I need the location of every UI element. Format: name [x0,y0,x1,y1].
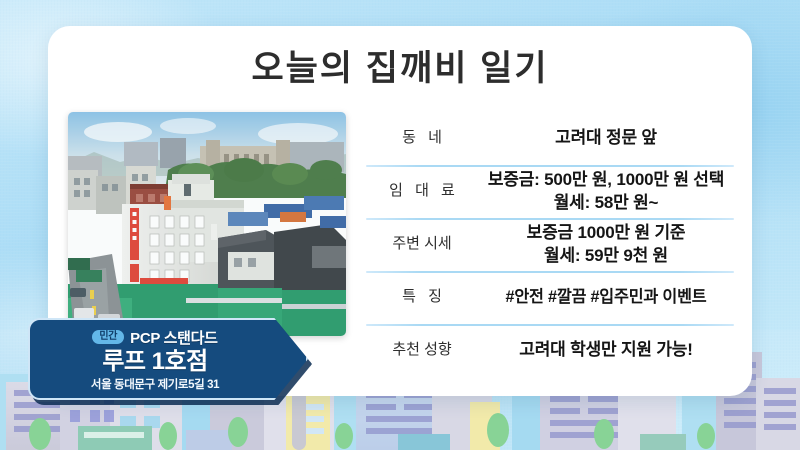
row-value-recommended-type: 고려대 학생만 지원 가능! [478,339,734,362]
table-row: 추천 성향 고려대 학생만 지원 가능! [366,324,734,377]
table-row: 임 대 료 보증금: 500만 원, 1000만 원 선택 월세: 58만 원~ [366,165,734,218]
aerial-building-photo [68,112,346,336]
row-value-market-price: 보증금 1000만 원 기준 월세: 59만 9천 원 [478,222,734,268]
table-row: 동 네 고려대 정문 앞 [366,112,734,165]
banner-address: 서울 동대문구 제기로5길 31 [91,376,219,392]
screenshot-root: 오늘의 집깨비 일기 [0,0,800,450]
row-value-neighborhood: 고려대 정문 앞 [478,127,734,150]
banner-content: 민간 PCP 스탠다드 루프 1호점 서울 동대문구 제기로5길 31 [28,318,308,400]
row-label-neighborhood: 동 네 [366,129,478,148]
table-row: 주변 시세 보증금 1000만 원 기준 월세: 59만 9천 원 [366,218,734,271]
row-label-recommended-type: 추천 성향 [366,341,478,360]
banner-brand-label: PCP 스탠다드 [130,327,218,348]
row-label-features: 특 징 [366,288,478,307]
table-row: 특 징 #안전 #깔끔 #입주민과 이벤트 [366,271,734,324]
row-label-market-price: 주변 시세 [366,235,478,254]
row-label-rent: 임 대 료 [366,182,478,201]
banner-property-name: 루프 1호점 [102,349,207,376]
row-value-rent: 보증금: 500만 원, 1000만 원 선택 월세: 58만 원~ [478,169,734,215]
property-name-banner: 민간 PCP 스탠다드 루프 1호점 서울 동대문구 제기로5길 31 [28,318,308,400]
page-title: 오늘의 집깨비 일기 [48,50,752,89]
row-value-features: #안전 #깔끔 #입주민과 이벤트 [478,287,734,309]
property-info-table: 동 네 고려대 정문 앞 임 대 료 보증금: 500만 원, 1000만 원 … [366,112,734,377]
property-photo [68,112,346,336]
status-badge: 민간 [92,330,124,344]
banner-brand-row: 민간 PCP 스탠다드 [92,327,217,348]
